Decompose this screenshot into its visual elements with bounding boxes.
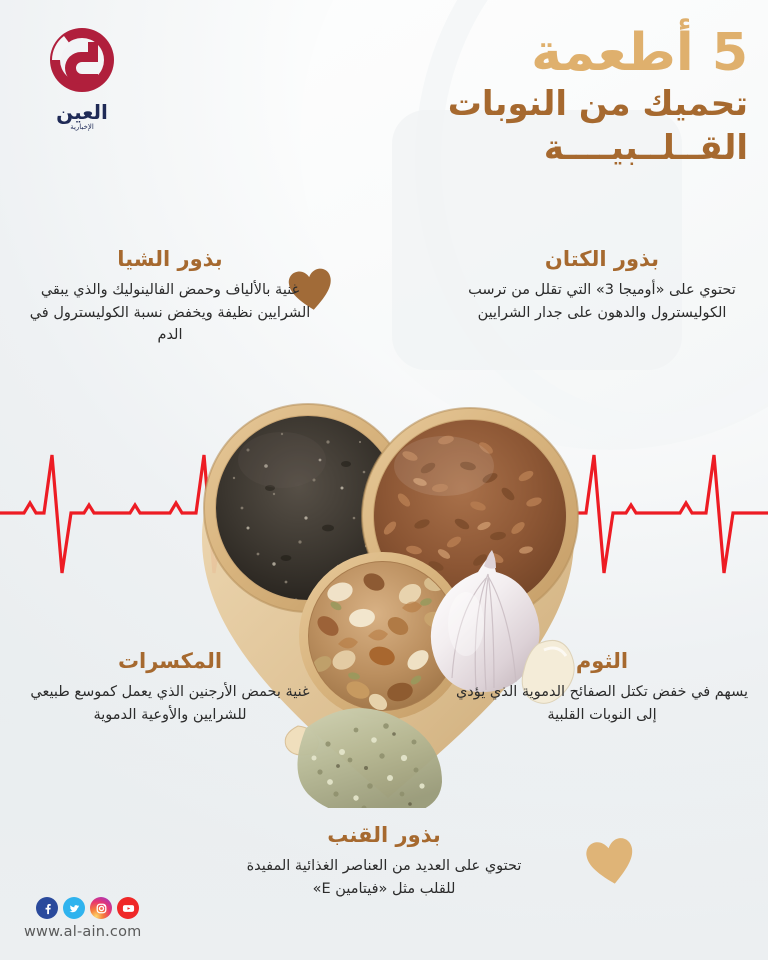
infographic-poster: العين الإخبارية 5 أطعمة تحميك من النوبات…	[0, 0, 768, 960]
callout-chia-seeds: بذور الشيا غنية بالألياف وحمض الفالينولي…	[20, 246, 320, 347]
footer: www.al-ain.com	[24, 897, 141, 940]
callout-body: يسهم في خفض تكتل الصفائح الدموية الذي يؤ…	[452, 681, 752, 726]
callout-body: غنية بحمض الأرجنين الذي يعمل كموسع طبيعي…	[20, 681, 320, 726]
callout-nuts: المكسرات غنية بحمض الأرجنين الذي يعمل كم…	[20, 648, 320, 726]
youtube-icon[interactable]	[117, 897, 139, 919]
callout-heading: بذور الشيا	[20, 246, 320, 273]
facebook-icon[interactable]	[36, 897, 58, 919]
callout-heading: الثوم	[452, 648, 752, 675]
callout-body: غنية بالألياف وحمض الفالينوليك والذي يبق…	[20, 279, 320, 346]
callout-body: تحتوي على «أوميجا 3» التي تقلل من ترسب ا…	[452, 279, 752, 324]
title-sub-line2: القــلــبيــــة	[228, 127, 748, 170]
callout-heading: بذور القنب	[234, 822, 534, 849]
title-main: 5 أطعمة	[228, 26, 748, 81]
brand-logo[interactable]: العين الإخبارية	[26, 22, 138, 131]
callout-heading: بذور الكتان	[452, 246, 752, 273]
callout-flax-seeds: بذور الكتان تحتوي على «أوميجا 3» التي تق…	[452, 246, 752, 324]
callout-heading: المكسرات	[20, 648, 320, 675]
ain-circle-logo-icon	[44, 22, 120, 98]
callout-body: تحتوي على العديد من العناصر الغذائية الم…	[234, 855, 534, 900]
callout-hemp-seeds: بذور القنب تحتوي على العديد من العناصر ا…	[234, 822, 534, 900]
twitter-icon[interactable]	[63, 897, 85, 919]
heart-icon-light	[582, 834, 640, 890]
callout-garlic: الثوم يسهم في خفض تكتل الصفائح الدموية ا…	[452, 648, 752, 726]
website-url[interactable]: www.al-ain.com	[24, 924, 141, 940]
logo-wordmark: العين	[26, 102, 138, 122]
title-sub-line1: تحميك من النوبات	[228, 83, 748, 126]
heart-food-artwork	[178, 368, 598, 808]
instagram-icon[interactable]	[90, 897, 112, 919]
page-title: 5 أطعمة تحميك من النوبات القــلــبيــــة	[228, 26, 748, 170]
social-links	[24, 897, 139, 919]
logo-subtitle: الإخبارية	[26, 124, 138, 131]
